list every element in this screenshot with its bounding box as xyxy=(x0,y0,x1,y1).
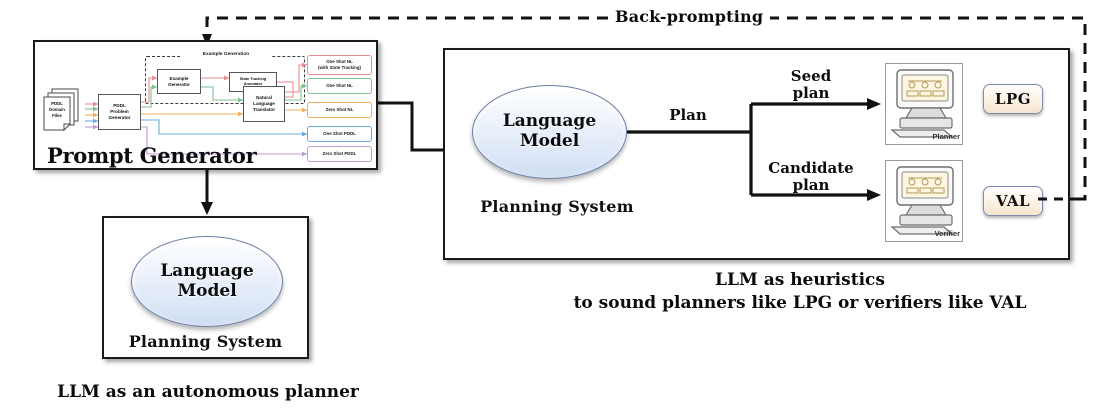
diagram-canvas: Back-prompting PDDL Domain Files PDDL Pr… xyxy=(0,0,1106,412)
planning-system-autonomous-panel: Language Model Planning System xyxy=(102,216,309,359)
prompt-generator-title: Prompt Generator xyxy=(47,143,256,168)
example-generation-group-title: Example Generation xyxy=(180,53,272,58)
planning-system-main-panel: Language Model Planning System Plan Seed… xyxy=(443,48,1070,260)
seed-plan-arrowhead xyxy=(867,98,881,110)
planning-system-label-autonomous: Planning System xyxy=(104,332,307,352)
language-model-ellipse-main: Language Model xyxy=(472,85,627,179)
language-model-ellipse-autonomous: Language Model xyxy=(131,236,283,327)
candidate-plan-label: Candidate plan xyxy=(751,160,871,193)
planner-device-label: Planner xyxy=(886,132,960,141)
candidate-plan-label-line1: Candidate xyxy=(751,160,871,177)
example-generator-node: Example Generator xyxy=(157,69,201,94)
prompt-to-planning-line xyxy=(374,103,450,150)
pddl-domain-files-label: PDDL Domain Files xyxy=(43,101,71,118)
verifier-device-box: Verifier xyxy=(885,160,963,242)
lpg-tool-pill: LPG xyxy=(983,84,1043,114)
caption-llm-heuristics-line2: to sound planners like LPG or verifiers … xyxy=(540,292,1060,315)
caption-llm-heuristics-line1: LLM as heuristics xyxy=(540,269,1060,292)
verifier-device-label: Verifier xyxy=(886,229,960,238)
prompt-to-autonomous-arrowhead xyxy=(201,202,213,215)
pddl-problem-generator-node: PDDL Problem Generator xyxy=(98,94,141,130)
seed-plan-label: Seed plan xyxy=(768,68,854,101)
prompt-generator-panel: PDDL Domain Files PDDL Problem Generator… xyxy=(33,40,378,170)
language-model-label-autonomous: Language Model xyxy=(160,262,253,301)
candidate-plan-label-line2: plan xyxy=(751,177,871,194)
pddl-domain-files-node: PDDL Domain Files xyxy=(40,87,90,135)
caption-llm-heuristics: LLM as heuristics to sound planners like… xyxy=(540,269,1060,315)
language-model-label-main: Language Model xyxy=(503,112,596,151)
caption-autonomous-planner: LLM as an autonomous planner xyxy=(33,381,383,404)
output-box-one-shot-pddl: One Shot PDDL xyxy=(307,126,372,142)
output-box-zero-shot-pddl: Zero Shot PDDL xyxy=(307,146,372,162)
back-prompting-label: Back-prompting xyxy=(608,7,770,26)
prompt-to-autonomous-arrow xyxy=(190,165,226,217)
seed-plan-label-line2: plan xyxy=(768,85,854,102)
output-box-one-shot-nl-state-tracking: One Shot NL (with State Tracking) xyxy=(307,55,372,75)
planner-device-box: Planner xyxy=(885,63,963,145)
natural-language-translator-node: Natural Language Translator xyxy=(243,86,285,122)
val-tool-pill: VAL xyxy=(983,186,1043,216)
planning-system-label-main: Planning System xyxy=(472,197,642,217)
output-box-one-shot-nl: One Shot NL xyxy=(307,78,372,94)
output-box-zero-shot-nl: Zero Shot NL xyxy=(307,102,372,118)
plan-label: Plan xyxy=(653,107,723,124)
seed-plan-label-line1: Seed xyxy=(768,68,854,85)
